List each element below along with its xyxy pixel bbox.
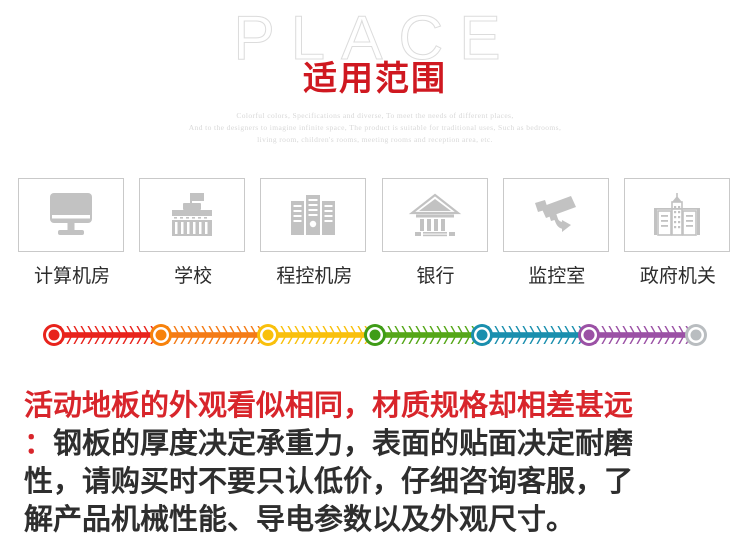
- paragraph-line-4: 解产品机械性能、导电参数以及外观尺寸。: [24, 500, 730, 538]
- server-rack-icon: [284, 191, 342, 239]
- page-header: PLACE 适用范围 Colorful colors, Specificatio…: [0, 0, 750, 160]
- scenario-label: 程控机房: [260, 261, 368, 288]
- scenario-item-school[interactable]: 学校: [139, 178, 247, 288]
- scenario-label: 银行: [382, 261, 490, 288]
- application-scenarios-list: 计算机房: [18, 178, 732, 288]
- paragraph-line-2: ：钢板的厚度决定承重力，表面的贴面决定耐磨: [24, 424, 730, 462]
- scenario-icon-box: [260, 178, 366, 252]
- scenario-item-switching-room[interactable]: 程控机房: [260, 178, 368, 288]
- scenario-label: 政府机关: [624, 261, 732, 288]
- scenario-icon-box: [382, 178, 488, 252]
- monitor-icon: [42, 191, 100, 239]
- scenario-icon-box: [503, 178, 609, 252]
- scenario-icon-box: [139, 178, 245, 252]
- scenario-item-bank[interactable]: 银行: [382, 178, 490, 288]
- scenario-label: 监控室: [503, 261, 611, 288]
- subtitle-line-3: living room, children's rooms, meeting r…: [0, 134, 750, 146]
- security-camera-icon: [527, 191, 585, 239]
- subtitle-block: Colorful colors, Specifications and dive…: [0, 110, 750, 146]
- scenario-icon-box: [18, 178, 124, 252]
- government-building-icon: [648, 191, 706, 239]
- scenario-label: 学校: [139, 261, 247, 288]
- subtitle-line-2: And to the designers to imagine infinite…: [0, 122, 750, 134]
- rainbow-chevron-divider: [42, 322, 708, 348]
- paragraph-line-1: 活动地板的外观看似相同，材质规格却相差甚远: [24, 386, 730, 424]
- school-building-icon: [163, 191, 221, 239]
- scenario-item-computer-room[interactable]: 计算机房: [18, 178, 126, 288]
- scenario-label: 计算机房: [18, 261, 126, 288]
- disclaimer-paragraph: 活动地板的外观看似相同，材质规格却相差甚远 ：钢板的厚度决定承重力，表面的贴面决…: [24, 386, 730, 538]
- paragraph-line-2-text: ：钢板的厚度决定承重力，表面的贴面决定耐磨: [24, 426, 633, 460]
- page-title: 适用范围: [0, 58, 750, 101]
- paragraph-line-3: 性，请购买时不要只认低价，仔细咨询客服，了: [24, 462, 730, 500]
- bank-building-icon: [406, 191, 464, 239]
- scenario-item-government[interactable]: 政府机关: [624, 178, 732, 288]
- scenario-item-monitoring-room[interactable]: 监控室: [503, 178, 611, 288]
- subtitle-line-1: Colorful colors, Specifications and dive…: [0, 110, 750, 122]
- scenario-icon-box: [624, 178, 730, 252]
